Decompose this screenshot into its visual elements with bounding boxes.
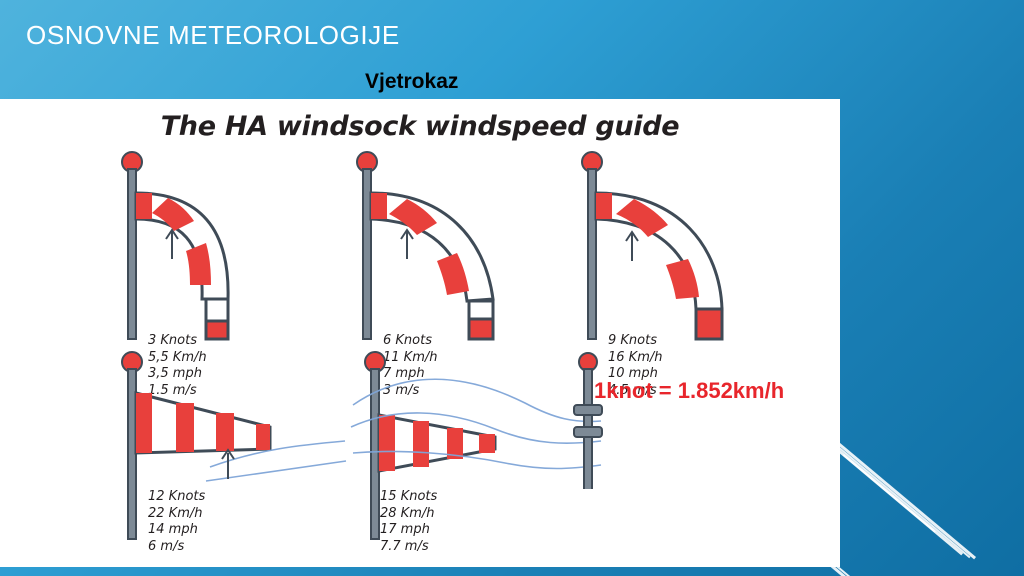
knot-conversion-note: 1knot = 1.852km/h (594, 378, 784, 404)
slide-subtitle: Vjetrokaz (365, 70, 458, 94)
cell-12-knots: 12 Knots 22 Km/h 14 mph 6 m/s (110, 349, 350, 569)
image-title: The HA windsock windspeed guide (0, 111, 840, 142)
cell-15-knots: 15 Knots 28 Km/h 17 mph 7.7 m/s (345, 349, 605, 569)
cell-15-knots-labels: 15 Knots 28 Km/h 17 mph 7.7 m/s (380, 489, 437, 555)
cell-12-knots-labels: 12 Knots 22 Km/h 14 mph 6 m/s (148, 489, 205, 555)
slide: OSNOVNE METEOROLOGIJE Vjetrokaz The HA w… (0, 0, 1024, 576)
windsock-guide-image: The HA windsock windspeed guide 3 Knots … (0, 99, 840, 567)
page-title: OSNOVNE METEOROLOGIJE (26, 20, 400, 51)
